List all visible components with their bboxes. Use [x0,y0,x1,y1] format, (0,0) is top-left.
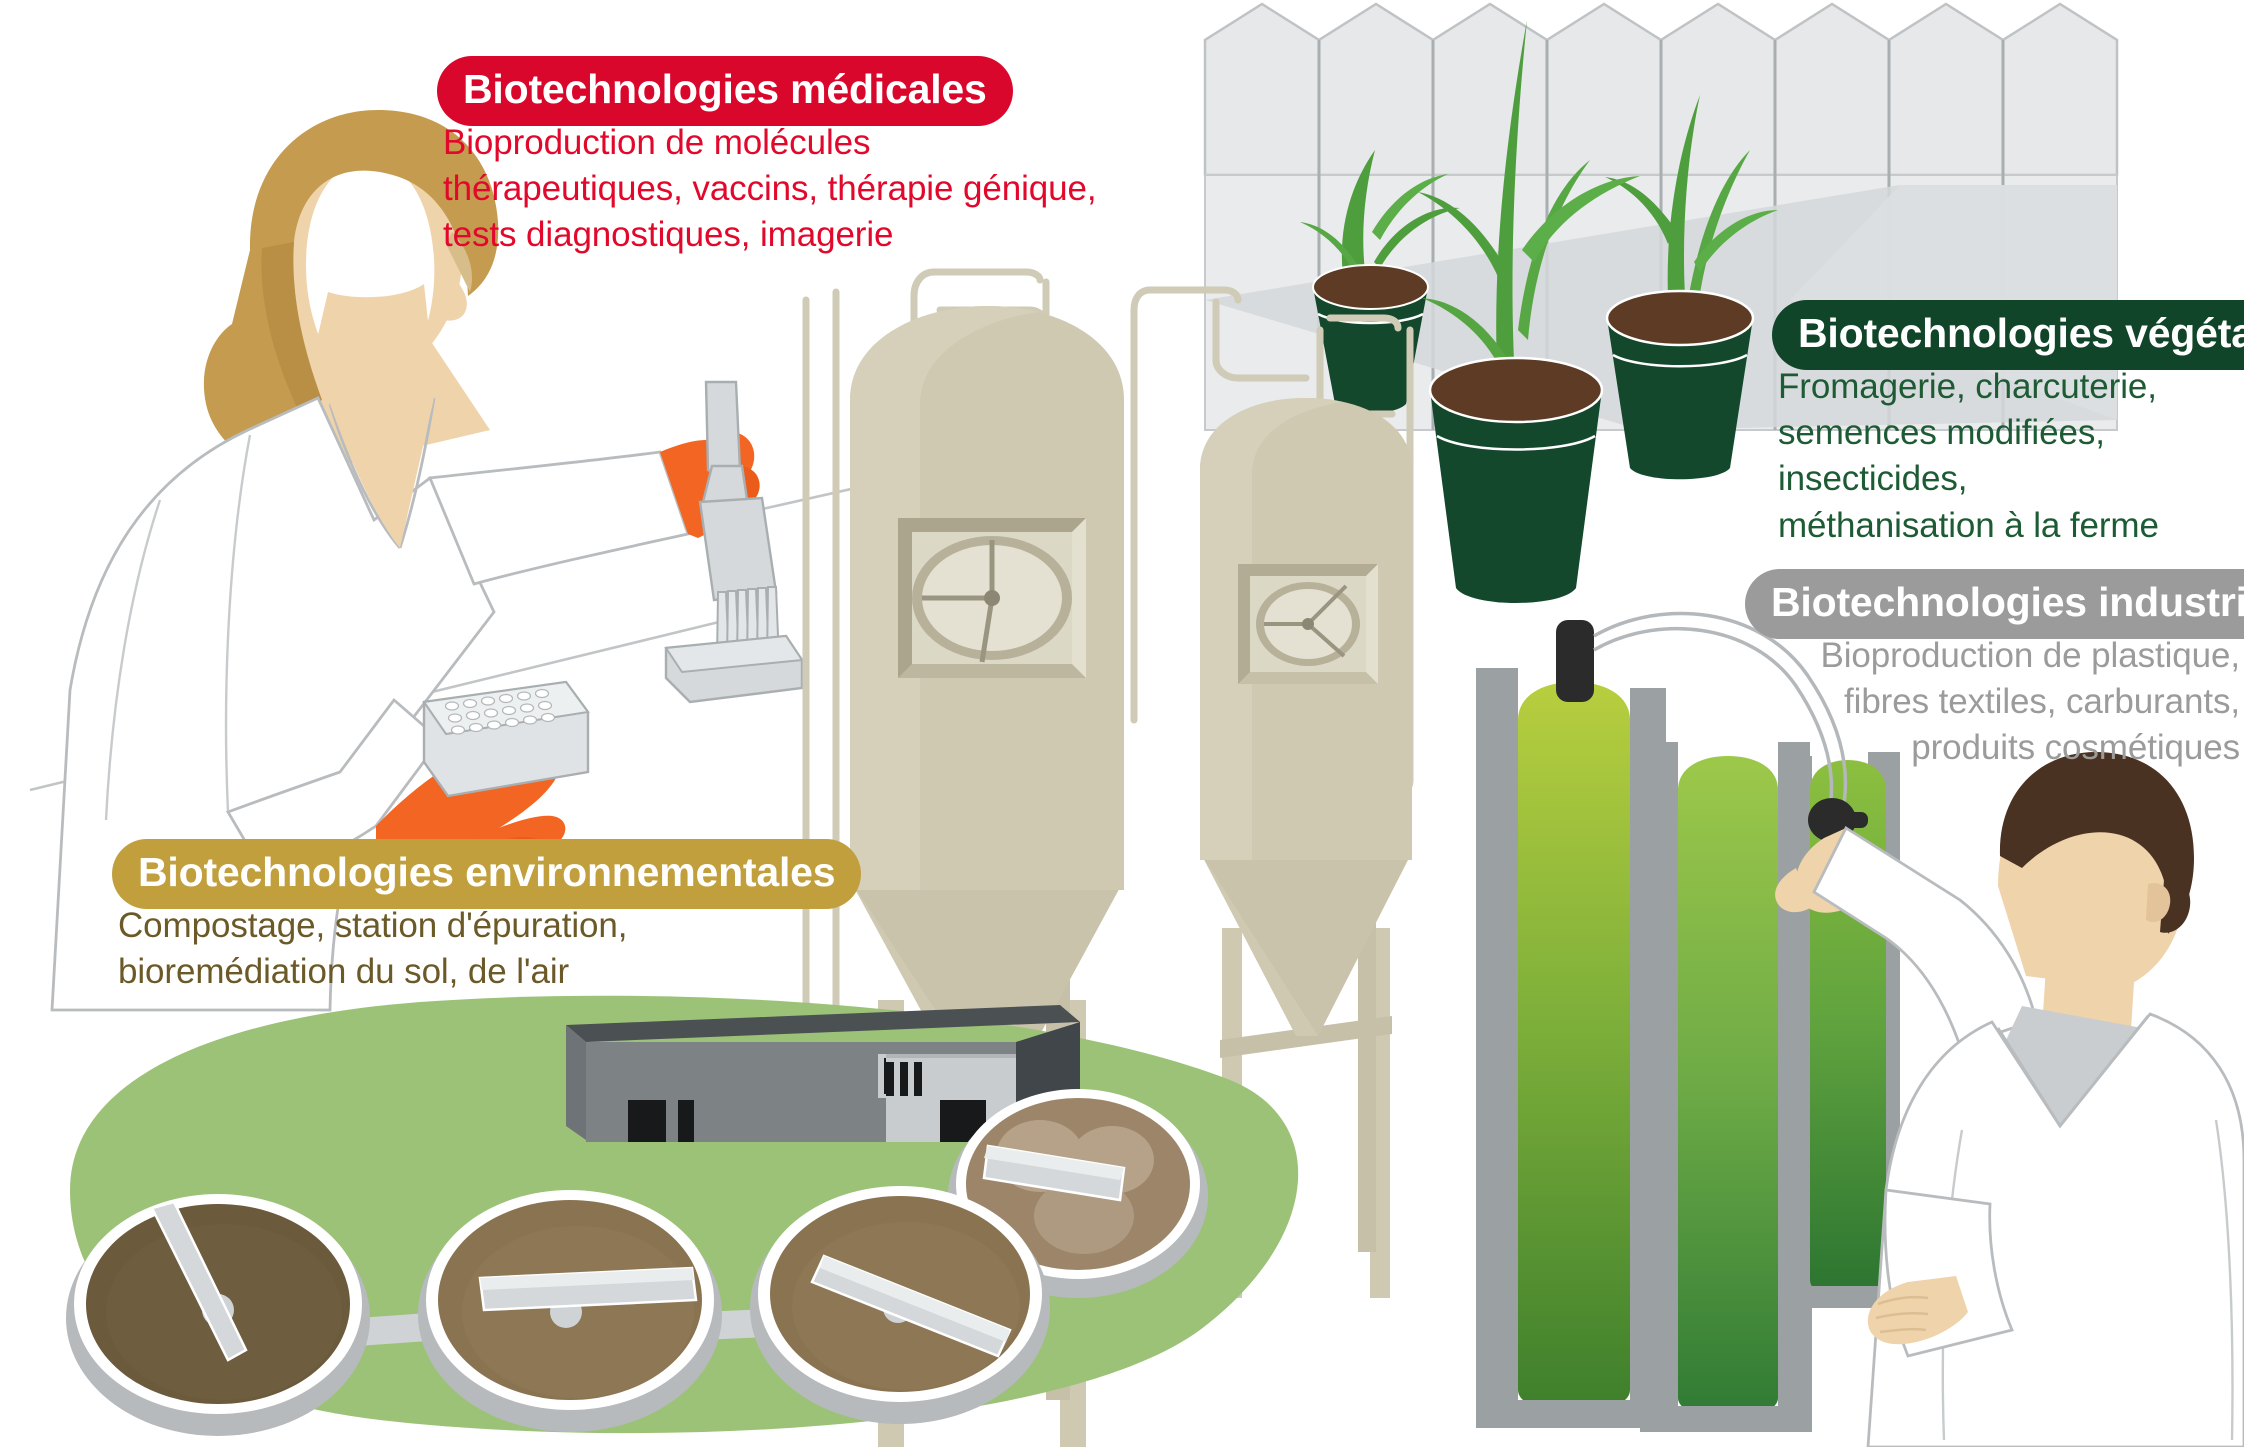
label-biotechnologies-industrielles: Biotechnologies industrielles [1745,569,2244,639]
treatment-basin-3 [750,1186,1050,1424]
treatment-basin-1 [66,1194,370,1436]
label-biotechnologies-environnementales: Biotechnologies environnementales [112,839,861,909]
description-biotechnologies-environnementales: Compostage, station d'épuration, bioremé… [118,903,627,995]
wastewater-treatment-illustration [66,996,1298,1436]
multichannel-pipette [666,382,802,702]
label-biotechnologies-medicales: Biotechnologies médicales [437,56,1013,126]
infographic-canvas: Biotechnologies médicales Bioproduction … [0,0,2244,1447]
description-biotechnologies-vegetales: Fromagerie, charcuterie, semences modifi… [1778,364,2244,549]
label-biotechnologies-vegetales: Biotechnologies végétales [1772,300,2244,370]
description-biotechnologies-industrielles: Bioproduction de plastique, fibres texti… [1240,633,2240,772]
microplate-96-well [424,682,588,796]
treatment-basin-2 [418,1190,722,1432]
description-biotechnologies-medicales: Bioproduction de molécules thérapeutique… [443,120,1096,259]
